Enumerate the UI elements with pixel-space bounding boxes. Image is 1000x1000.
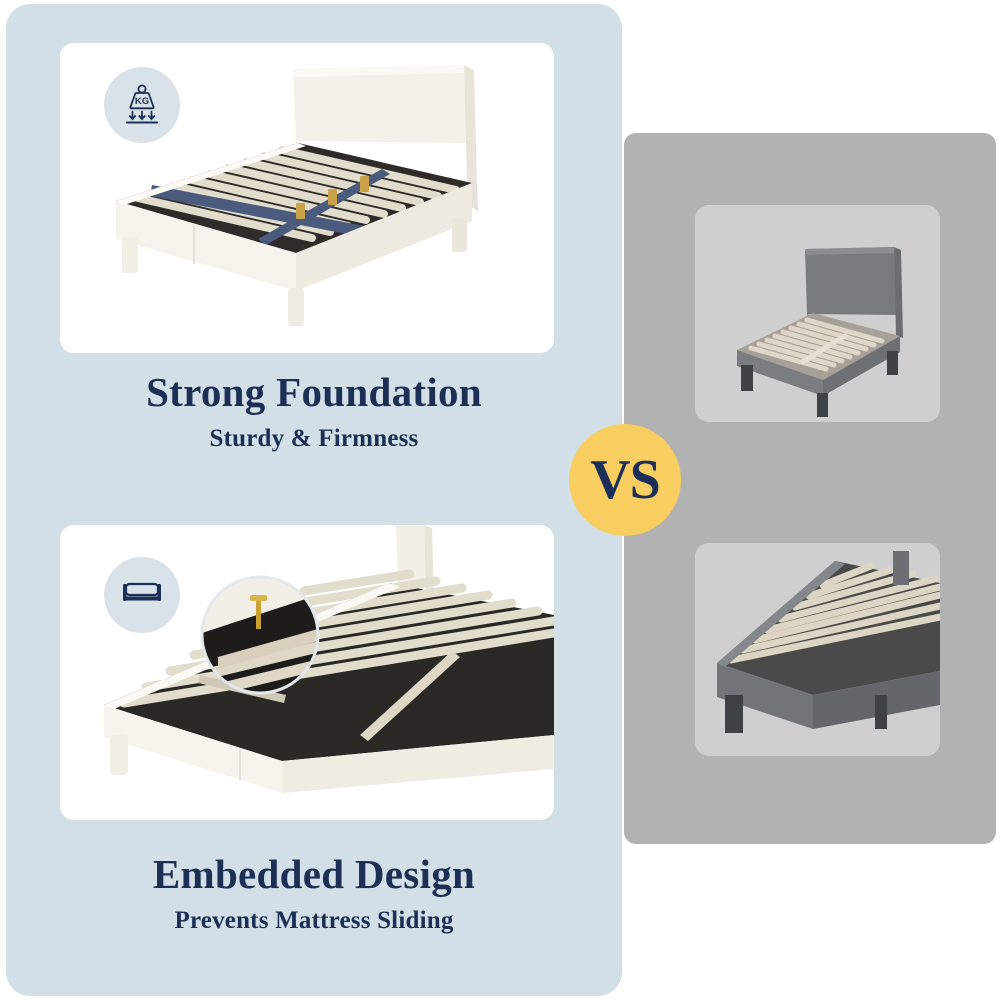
- mattress-stability-badge: [104, 557, 180, 633]
- feature-caption-embedded-design: Embedded Design Prevents Mattress Slidin…: [6, 852, 622, 935]
- product-image-card-strong-foundation: KG: [60, 43, 554, 353]
- competitor-image-card-bottom: [695, 543, 940, 756]
- feature-subtitle: Sturdy & Firmness: [6, 425, 622, 453]
- product-image-card-embedded-design: [60, 525, 554, 820]
- feature-title: Embedded Design: [6, 852, 622, 898]
- vs-label: VS: [590, 452, 660, 508]
- feature-subtitle: Prevents Mattress Sliding: [6, 907, 622, 935]
- feature-caption-strong-foundation: Strong Foundation Sturdy & Firmness: [6, 370, 622, 453]
- vs-badge: VS: [569, 424, 681, 536]
- product-panel: KG Strong Foundation Sturdy: [6, 4, 622, 996]
- grey-bed-with-headboard-illustration: [695, 205, 940, 422]
- magnifier-callout: [202, 577, 318, 693]
- grey-bed-corner-illustration: [695, 543, 940, 756]
- feature-title: Strong Foundation: [6, 370, 622, 416]
- svg-text:KG: KG: [135, 96, 149, 107]
- competitor-image-card-top: [695, 205, 940, 422]
- infographic-canvas: KG Strong Foundation Sturdy: [0, 0, 1000, 1000]
- bed-profile-icon: [118, 575, 166, 615]
- weight-capacity-badge: KG: [104, 67, 180, 143]
- weight-kg-icon: KG: [119, 82, 165, 128]
